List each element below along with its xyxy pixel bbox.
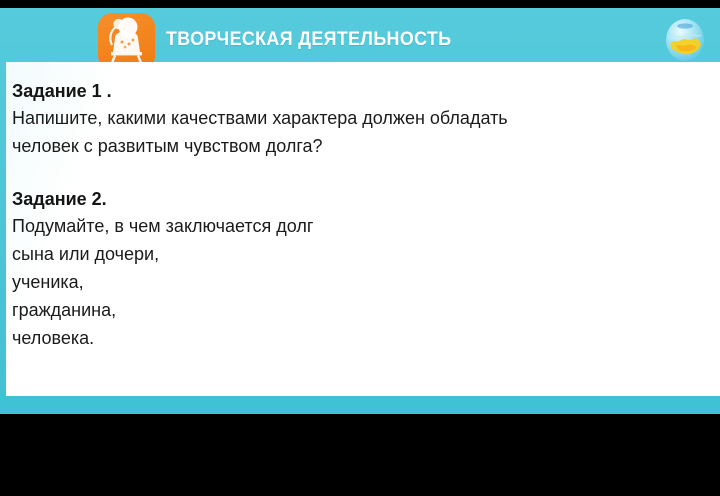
presentation-slide: ТВОРЧЕСКАЯ ДЕЯТЕЛЬНОСТЬ [0, 8, 720, 414]
task-1-heading: Задание 1 . [12, 78, 712, 104]
slide-bottom-strip [0, 396, 720, 414]
top-letterbox-bar [0, 0, 720, 8]
task-1-line-1: Напишите, какими качествами характера до… [12, 104, 712, 132]
slide-header: ТВОРЧЕСКАЯ ДЕЯТЕЛЬНОСТЬ [0, 8, 720, 62]
task-2-line-2: сына или дочери, [12, 240, 712, 268]
slide-screenshot: ТВОРЧЕСКАЯ ДЕЯТЕЛЬНОСТЬ [0, 0, 720, 496]
task-2-line-3: ученика, [12, 268, 712, 296]
tasks-container: Задание 1 . Напишите, какими качествами … [12, 78, 712, 352]
task-2-heading: Задание 2. [12, 186, 712, 212]
task-block-2: Задание 2. Подумайте, в чем заключается … [12, 186, 712, 352]
task-2-line-4: гражданина, [12, 296, 712, 324]
task-2-line-5: человека. [12, 324, 712, 352]
globe-map-logo [663, 14, 707, 64]
slide-title: ТВОРЧЕСКАЯ ДЕЯТЕЛЬНОСТЬ [166, 29, 451, 51]
task-1-line-2: человек с развитым чувством долга? [12, 132, 712, 160]
bottom-letterbox-bar [0, 414, 720, 496]
content-card: Задание 1 . Напишите, какими качествами … [6, 62, 720, 396]
task-block-1: Задание 1 . Напишите, какими качествами … [12, 78, 712, 160]
task-2-line-1: Подумайте, в чем заключается долг [12, 212, 712, 240]
